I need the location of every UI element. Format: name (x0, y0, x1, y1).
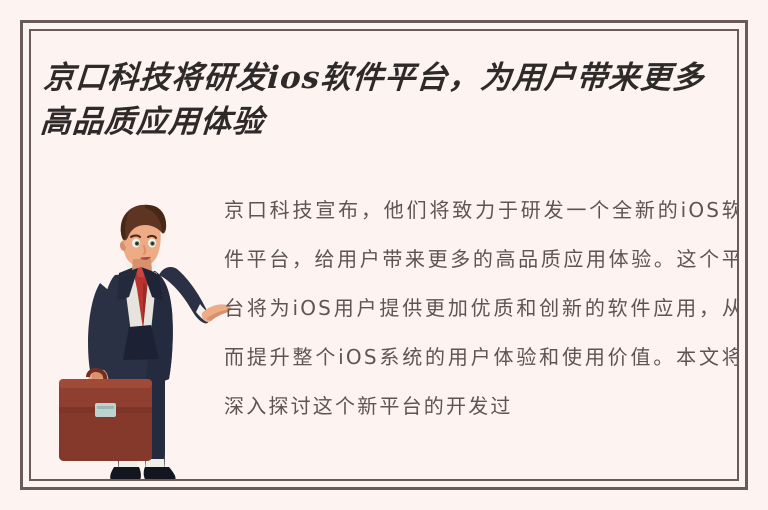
businessman-illustration (59, 163, 234, 479)
article-poster: 京口科技将研发ios软件平台，为用户带来更多高品质应用体验 (0, 0, 768, 510)
article-headline: 京口科技将研发ios软件平台，为用户带来更多高品质应用体验 (39, 56, 735, 144)
poster-content: 京口科技将研发ios软件平台，为用户带来更多高品质应用体验 (31, 31, 737, 479)
article-body: 京口科技宣布，他们将致力于研发一个全新的iOS软件平台，给用户带来更多的高品质应… (224, 186, 737, 431)
